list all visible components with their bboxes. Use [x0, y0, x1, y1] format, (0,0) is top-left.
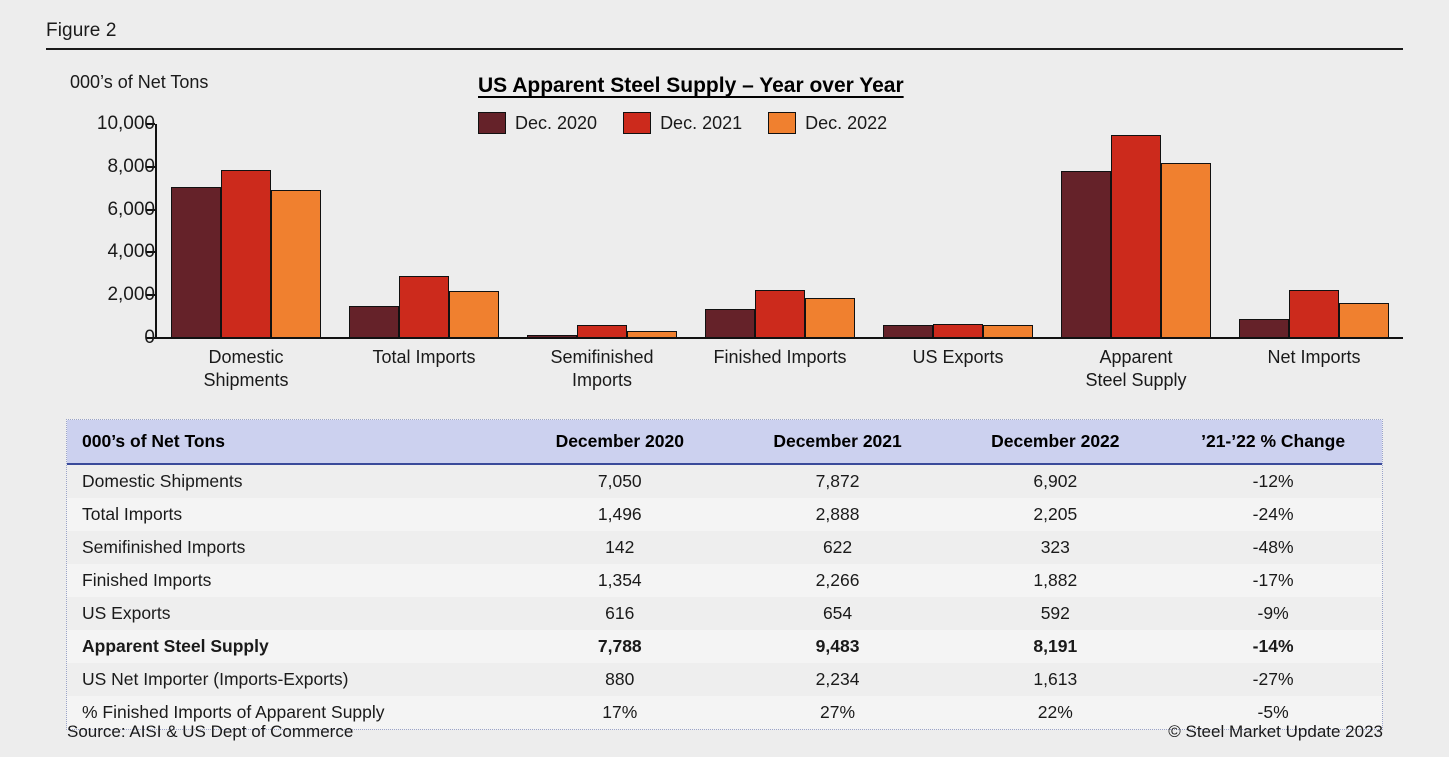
copyright-note: © Steel Market Update 2023	[1168, 722, 1383, 742]
bar-group	[1047, 124, 1225, 338]
table-row: US Exports616654592-9%	[67, 597, 1382, 630]
bar	[449, 291, 499, 338]
bar	[1111, 135, 1161, 338]
table-cell-value: 1,882	[946, 564, 1164, 597]
table-cell-value: 1,613	[946, 663, 1164, 696]
table-cell-value: 622	[729, 531, 947, 564]
table-cell-value: 654	[729, 597, 947, 630]
table-cell-value: 1,496	[511, 498, 729, 531]
table-cell-value: 27%	[729, 696, 947, 729]
bar	[933, 324, 983, 338]
y-axis-tick-label: 8,000	[107, 156, 155, 178]
bar	[1289, 290, 1339, 338]
category-label-line: Shipments	[157, 369, 335, 392]
y-axis-tick-label: 6,000	[107, 199, 155, 221]
bar	[1239, 319, 1289, 338]
source-note: Source: AISI & US Dept of Commerce	[67, 722, 353, 742]
bar	[1161, 163, 1211, 338]
table-cell-value: -9%	[1164, 597, 1382, 630]
table-row: Semifinished Imports142622323-48%	[67, 531, 1382, 564]
table-row-label: Apparent Steel Supply	[67, 630, 511, 663]
bar	[271, 190, 321, 338]
table-cell-value: 6,902	[946, 464, 1164, 498]
table-cell-value: 2,266	[729, 564, 947, 597]
bar	[171, 187, 221, 338]
table-row-label: US Exports	[67, 597, 511, 630]
x-axis-category-label: ApparentSteel Supply	[1047, 346, 1225, 392]
category-label-line: Imports	[513, 369, 691, 392]
table-body: Domestic Shipments7,0507,8726,902-12%Tot…	[67, 464, 1382, 729]
category-label-line: Domestic	[157, 346, 335, 369]
table-cell-value: 8,191	[946, 630, 1164, 663]
bars-area	[157, 124, 1403, 338]
table-cell-value: 880	[511, 663, 729, 696]
table-column-header: ’21-’22 % Change	[1164, 420, 1382, 464]
table-column-header: December 2021	[729, 420, 947, 464]
table-cell-value: 2,888	[729, 498, 947, 531]
table-cell-value: -12%	[1164, 464, 1382, 498]
bar	[1061, 171, 1111, 338]
bar	[805, 298, 855, 338]
x-axis-category-label: Net Imports	[1225, 346, 1403, 369]
bar	[883, 325, 933, 338]
x-axis-category-label: Finished Imports	[691, 346, 869, 369]
category-label-line: Net Imports	[1225, 346, 1403, 369]
bar-group	[513, 124, 691, 338]
table-row-label: Semifinished Imports	[67, 531, 511, 564]
bar	[983, 325, 1033, 338]
table-cell-value: 592	[946, 597, 1164, 630]
table-cell-value: 9,483	[729, 630, 947, 663]
bar	[349, 306, 399, 338]
table-row: Domestic Shipments7,0507,8726,902-12%	[67, 464, 1382, 498]
table-cell-value: -17%	[1164, 564, 1382, 597]
category-label-line: Steel Supply	[1047, 369, 1225, 392]
bar	[705, 309, 755, 338]
chart-plot-area: 02,0004,0006,0008,00010,000 DomesticShip…	[0, 0, 1449, 410]
table-cell-value: 2,205	[946, 498, 1164, 531]
data-table: 000’s of Net TonsDecember 2020December 2…	[67, 420, 1382, 729]
x-axis-category-label: US Exports	[869, 346, 1047, 369]
table-column-header: 000’s of Net Tons	[67, 420, 511, 464]
bar	[399, 276, 449, 338]
table-row-label: Total Imports	[67, 498, 511, 531]
table-cell-value: -27%	[1164, 663, 1382, 696]
table-row-label: Domestic Shipments	[67, 464, 511, 498]
table-cell-value: 7,050	[511, 464, 729, 498]
table-row: Apparent Steel Supply7,7889,4838,191-14%	[67, 630, 1382, 663]
table-cell-value: 1,354	[511, 564, 729, 597]
bar-group	[157, 124, 335, 338]
table-row: US Net Importer (Imports-Exports)8802,23…	[67, 663, 1382, 696]
table-cell-value: 323	[946, 531, 1164, 564]
bar-group	[869, 124, 1047, 338]
bar	[577, 325, 627, 338]
table-cell-value: -48%	[1164, 531, 1382, 564]
table-cell-value: 2,234	[729, 663, 947, 696]
table-cell-value: -14%	[1164, 630, 1382, 663]
figure-page: Figure 2 000’s of Net Tons US Apparent S…	[0, 0, 1449, 757]
table-cell-value: 7,872	[729, 464, 947, 498]
table-head: 000’s of Net TonsDecember 2020December 2…	[67, 420, 1382, 464]
table-cell-value: -24%	[1164, 498, 1382, 531]
table-cell-value: 17%	[511, 696, 729, 729]
table-row-label: US Net Importer (Imports-Exports)	[67, 663, 511, 696]
data-table-container: 000’s of Net TonsDecember 2020December 2…	[66, 419, 1383, 730]
bar	[221, 170, 271, 338]
bar	[527, 335, 577, 338]
x-axis-category-label: SemifinishedImports	[513, 346, 691, 392]
y-axis-tick-label: 0	[144, 327, 155, 349]
bar-group	[1225, 124, 1403, 338]
y-axis-tick-label: 10,000	[97, 113, 155, 135]
table-row-label: Finished Imports	[67, 564, 511, 597]
category-label-line: Total Imports	[335, 346, 513, 369]
bar	[1339, 303, 1389, 338]
table-cell-value: 142	[511, 531, 729, 564]
table-header-row: 000’s of Net TonsDecember 2020December 2…	[67, 420, 1382, 464]
y-axis-tick-label: 4,000	[107, 241, 155, 263]
table-row: Finished Imports1,3542,2661,882-17%	[67, 564, 1382, 597]
table-cell-value: 616	[511, 597, 729, 630]
bar-group	[335, 124, 513, 338]
x-axis-category-label: Total Imports	[335, 346, 513, 369]
table-column-header: December 2022	[946, 420, 1164, 464]
table-cell-value: 22%	[946, 696, 1164, 729]
bar	[755, 290, 805, 338]
table-cell-value: 7,788	[511, 630, 729, 663]
table-row: Total Imports1,4962,8882,205-24%	[67, 498, 1382, 531]
table-column-header: December 2020	[511, 420, 729, 464]
bar	[627, 331, 677, 338]
y-axis-tick-label: 2,000	[107, 284, 155, 306]
category-label-line: Finished Imports	[691, 346, 869, 369]
category-label-line: US Exports	[869, 346, 1047, 369]
category-label-line: Semifinished	[513, 346, 691, 369]
x-axis-category-label: DomesticShipments	[157, 346, 335, 392]
category-label-line: Apparent	[1047, 346, 1225, 369]
bar-group	[691, 124, 869, 338]
